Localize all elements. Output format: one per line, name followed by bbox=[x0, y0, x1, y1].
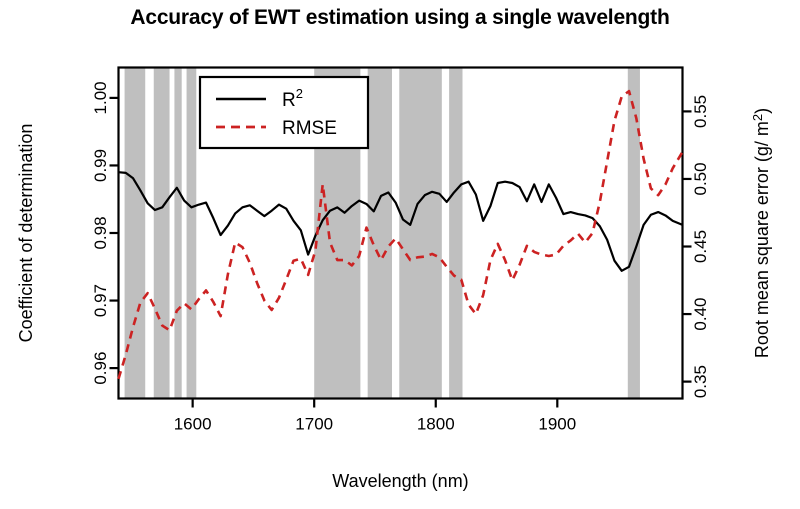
y2-tick-label: 0.35 bbox=[691, 365, 710, 398]
y-tick-label: 1.00 bbox=[91, 81, 110, 114]
shaded-band bbox=[399, 68, 442, 399]
y-tick-label: 0.98 bbox=[91, 216, 110, 249]
x-tick-label: 1600 bbox=[174, 415, 212, 434]
shaded-band bbox=[174, 68, 181, 399]
y2-axis-title-main: Root mean square error (g/ m bbox=[752, 121, 772, 358]
shaded-band bbox=[368, 68, 392, 399]
y2-axis-title-tail: ) bbox=[752, 108, 772, 114]
y2-tick-label: 0.45 bbox=[691, 230, 710, 263]
x-axis-title: Wavelength (nm) bbox=[332, 471, 468, 491]
shaded-band bbox=[154, 68, 170, 399]
figure-container: Accuracy of EWT estimation using a singl… bbox=[0, 0, 800, 509]
y-tick-label: 0.96 bbox=[91, 352, 110, 385]
y-tick-label: 0.99 bbox=[91, 149, 110, 182]
y2-tick-label: 0.50 bbox=[691, 162, 710, 195]
y2-axis-title-exponent: 2 bbox=[750, 114, 765, 121]
y-axis-title: Coefficient of determination bbox=[16, 124, 36, 343]
y-tick-label: 0.97 bbox=[91, 284, 110, 317]
chart-legend: R2RMSE bbox=[200, 77, 368, 148]
y2-axis-title: Root mean square error (g/ m2) bbox=[750, 108, 772, 358]
legend-label-rmse: RMSE bbox=[282, 118, 337, 139]
shaded-band bbox=[187, 68, 197, 399]
shaded-band bbox=[449, 68, 462, 399]
legend-label-exponent: 2 bbox=[296, 86, 303, 101]
shaded-band bbox=[628, 68, 640, 399]
chart-plot: 16001700180019000.960.970.980.991.000.35… bbox=[0, 0, 800, 509]
y2-tick-label: 0.40 bbox=[691, 298, 710, 331]
y2-tick-label: 0.55 bbox=[691, 95, 710, 128]
legend-label-text: RMSE bbox=[282, 118, 337, 139]
x-tick-label: 1800 bbox=[417, 415, 455, 434]
x-tick-label: 1700 bbox=[295, 415, 333, 434]
legend-label-text: R bbox=[282, 90, 296, 111]
x-tick-label: 1900 bbox=[538, 415, 576, 434]
